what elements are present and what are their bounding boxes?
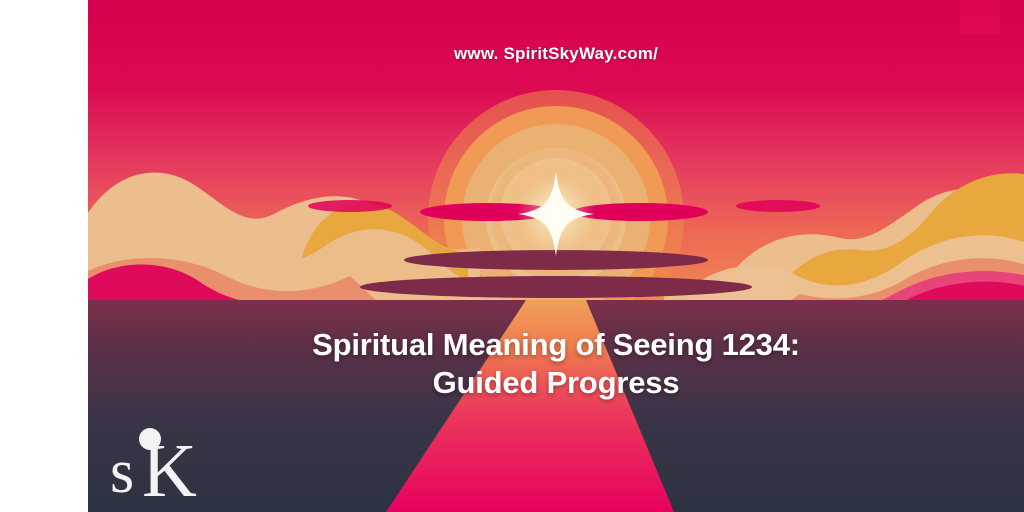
left-white-margin: [0, 0, 88, 512]
sunset-scene-illustration: [88, 0, 1024, 512]
sk-logo-icon: s K: [104, 424, 214, 504]
artwork-panel: www. SpiritSkyWay.com/ Spiritual Meaning…: [88, 0, 1024, 512]
dark-plate-lower: [360, 276, 752, 298]
logo-letter-k: K: [142, 429, 197, 504]
headline-line-2: Guided Progress: [148, 364, 964, 402]
sky-top-patch: [960, 0, 1000, 34]
headline: Spiritual Meaning of Seeing 1234: Guided…: [148, 326, 964, 402]
poster-canvas: www. SpiritSkyWay.com/ Spiritual Meaning…: [0, 0, 1024, 512]
website-url: www. SpiritSkyWay.com/: [88, 44, 1024, 64]
pink-streak-far-left: [308, 200, 392, 212]
pink-streak-far-right: [736, 200, 820, 212]
logo-letter-s: s: [110, 438, 134, 504]
headline-line-1: Spiritual Meaning of Seeing 1234:: [148, 326, 964, 364]
sk-logo: s K: [104, 424, 214, 504]
